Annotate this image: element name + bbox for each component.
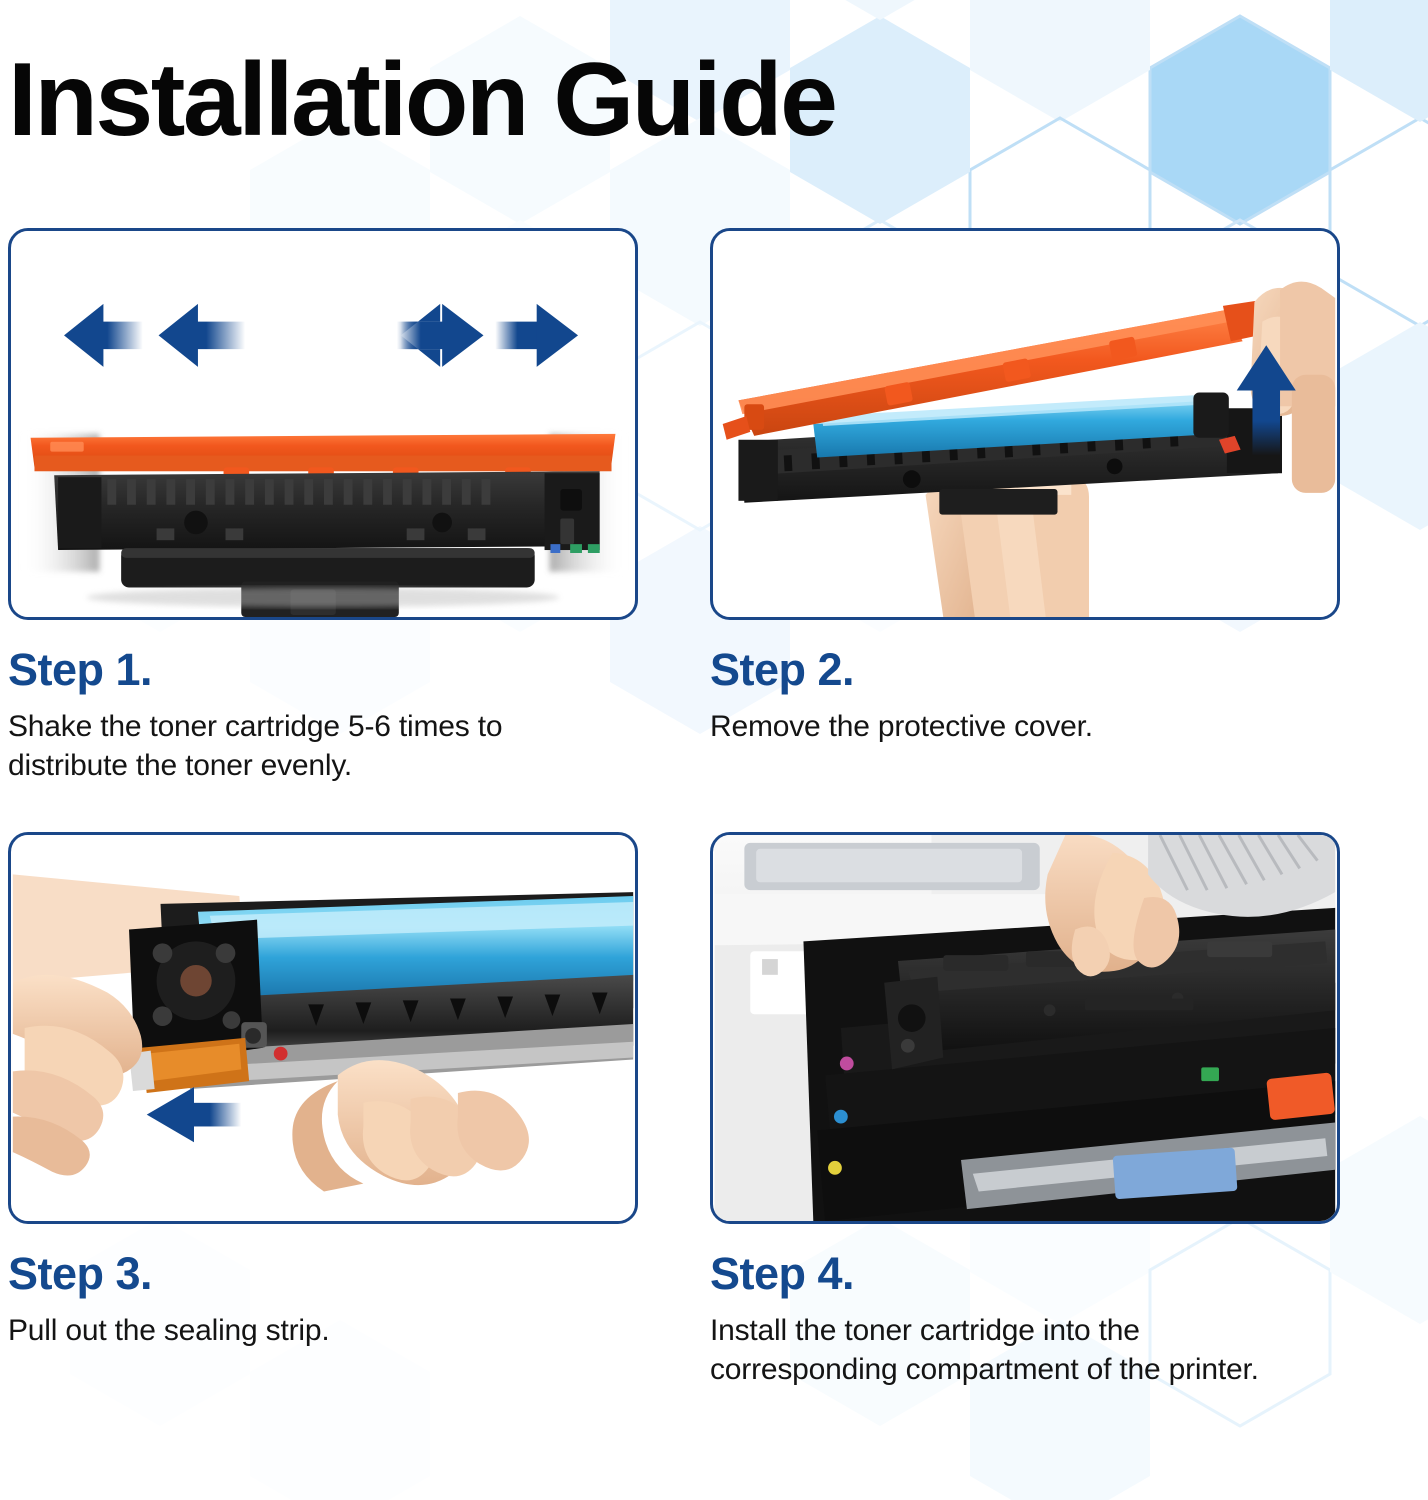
step-3-label: Step 3. <box>8 1250 638 1297</box>
step-4-image-card <box>710 832 1340 1224</box>
step-1-label: Step 1. <box>8 646 638 693</box>
step-1-image-card <box>8 228 638 620</box>
step-2-block: Step 2. Remove the protective cover. <box>710 228 1340 746</box>
step-4-block: Step 4. Install the toner cartridge into… <box>710 832 1340 1389</box>
step-2-image-card <box>710 228 1340 620</box>
installation-guide-page: Installation Guide <box>0 0 1428 1500</box>
hands-pulling-sealing-strip-illustration <box>11 835 635 1221</box>
hand-removing-protective-cover-illustration <box>713 231 1337 617</box>
hand-inserting-cartridge-into-printer-illustration <box>713 835 1337 1221</box>
step-2-label: Step 2. <box>710 646 1340 693</box>
step-1-block: Step 1. Shake the toner cartridge 5-6 ti… <box>8 228 638 785</box>
step-3-block: Step 3. Pull out the sealing strip. <box>8 832 638 1350</box>
step-4-description: Install the toner cartridge into the cor… <box>710 1311 1310 1389</box>
step-1-description: Shake the toner cartridge 5-6 times to d… <box>8 707 608 785</box>
step-2-description: Remove the protective cover. <box>710 707 1310 746</box>
step-3-description: Pull out the sealing strip. <box>8 1311 608 1350</box>
step-3-image-card <box>8 832 638 1224</box>
page-title: Installation Guide <box>8 48 836 152</box>
step-4-label: Step 4. <box>710 1250 1340 1297</box>
toner-cartridge-shake-arrows-illustration <box>11 231 635 617</box>
